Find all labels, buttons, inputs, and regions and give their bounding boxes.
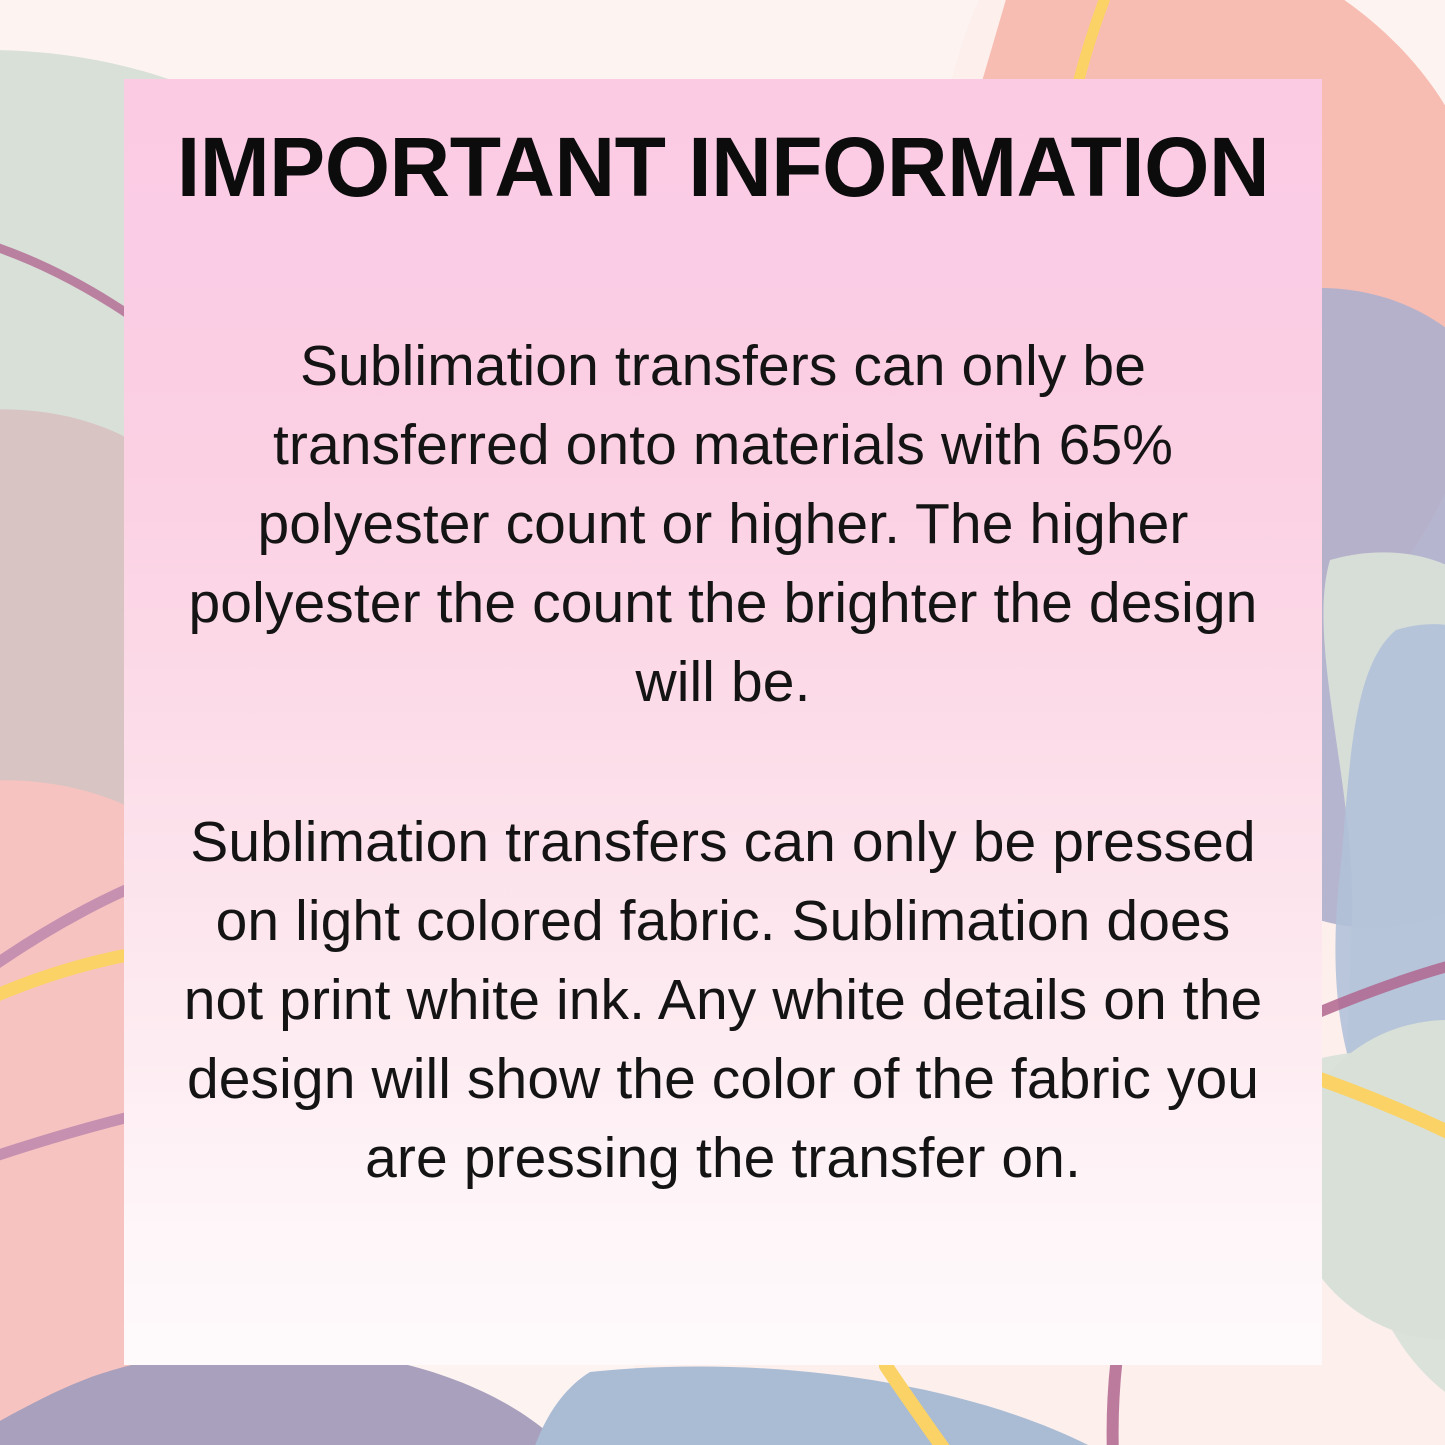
page-title: IMPORTANT INFORMATION — [158, 125, 1288, 209]
card-body: Sublimation transfers can only be transf… — [158, 327, 1288, 1198]
important-information-card: IMPORTANT INFORMATION Sublimation transf… — [124, 79, 1322, 1365]
poster-canvas: IMPORTANT INFORMATION Sublimation transf… — [0, 0, 1445, 1445]
info-paragraph-fabric-color: Sublimation transfers can only be presse… — [158, 803, 1288, 1198]
info-paragraph-polyester: Sublimation transfers can only be transf… — [158, 327, 1288, 722]
